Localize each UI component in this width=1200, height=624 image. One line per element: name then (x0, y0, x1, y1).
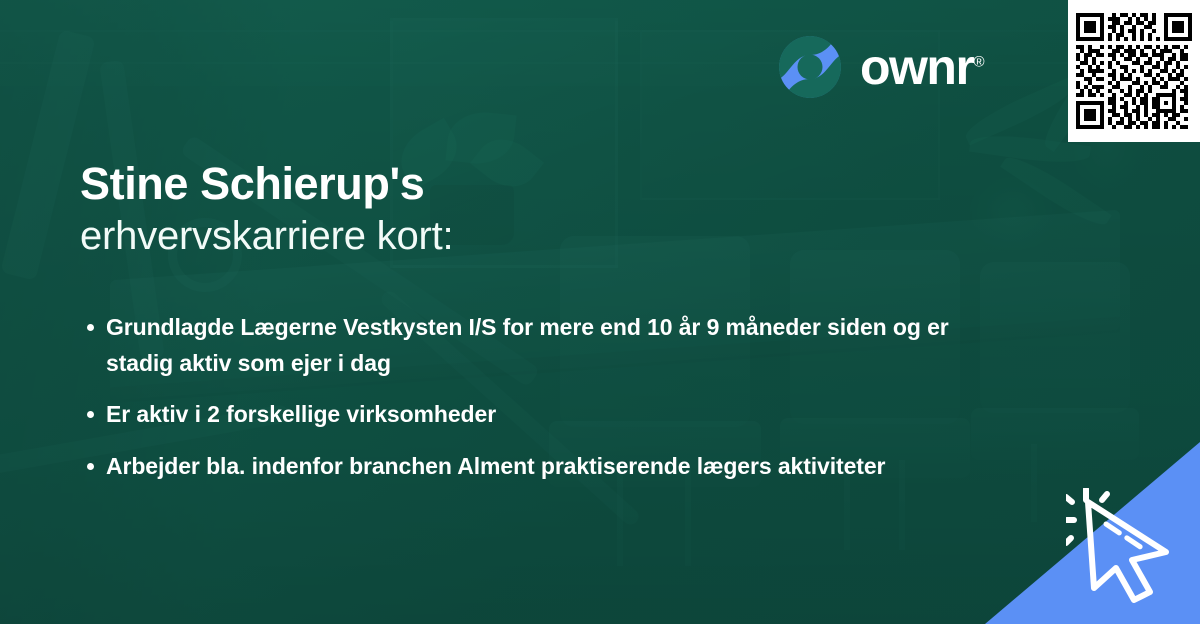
list-item: Grundlagde Lægerne Vestkysten I/S for me… (80, 310, 950, 381)
career-facts-list: Grundlagde Lægerne Vestkysten I/S for me… (80, 310, 950, 501)
list-item: Arbejder bla. indenfor branchen Alment p… (80, 449, 950, 485)
ownr-logo[interactable]: ownr® (778, 35, 985, 99)
business-career-card: ownr® (0, 0, 1200, 624)
list-item: Er aktiv i 2 forskellige virksomheder (80, 397, 950, 433)
ownr-wordmark: ownr® (860, 42, 985, 92)
headline-block: Stine Schierup's erhvervskarriere kort: (80, 160, 720, 258)
ownr-swirl-icon (778, 35, 842, 99)
qr-code (1076, 13, 1192, 129)
page-subtitle: erhvervskarriere kort: (80, 214, 720, 258)
click-cursor-icon (1066, 488, 1178, 606)
card-content: ownr® (0, 0, 1200, 624)
page-title: Stine Schierup's (80, 160, 720, 208)
ownr-wordmark-text: ownr (860, 39, 973, 95)
qr-code-panel[interactable] (1068, 0, 1200, 142)
registered-trademark-symbol: ® (973, 53, 984, 70)
